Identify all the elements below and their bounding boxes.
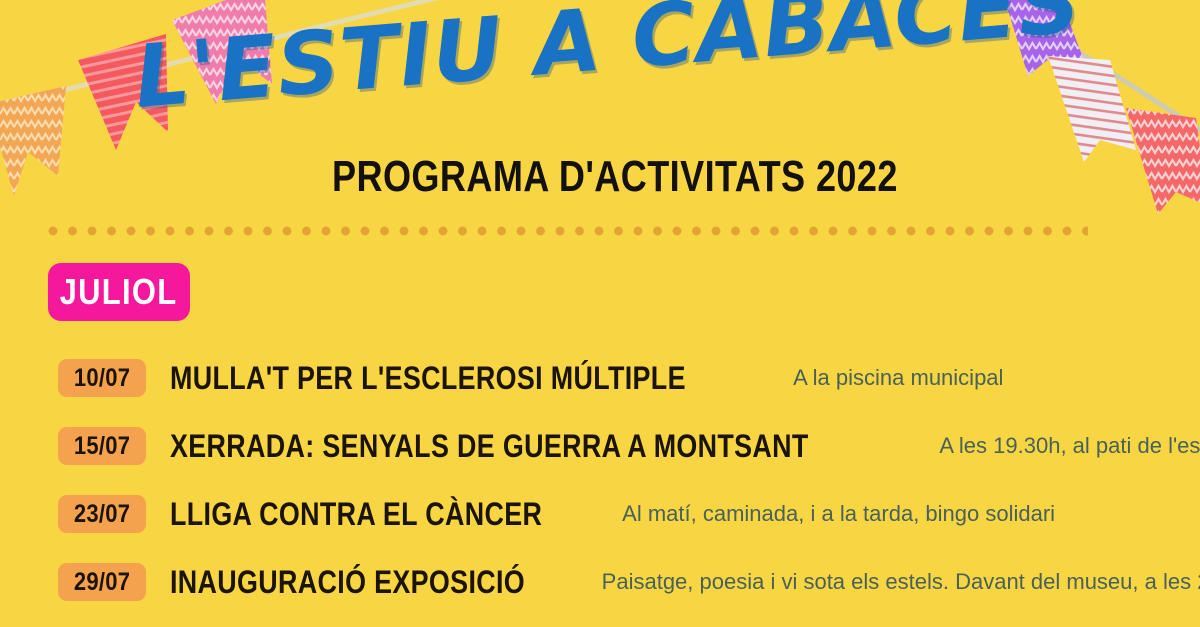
title-block: L'ESTIU A CABACÉS PROGRAMA D'ACTIVITATS … <box>0 0 1200 215</box>
list-item: 10/07 MULLA'T PER L'ESCLEROSI MÚLTIPLE A… <box>0 344 1200 412</box>
list-item-clipped <box>0 616 1200 627</box>
event-title: INAUGURACIÓ EXPOSICIÓ <box>170 565 525 599</box>
date-badge: 23/07 <box>58 495 146 533</box>
month-badge-juliol: JULIOL <box>48 263 190 321</box>
event-description: Al matí, caminada, i a la tarda, bingo s… <box>622 501 1055 527</box>
event-title: MULLA'T PER L'ESCLEROSI MÚLTIPLE <box>170 361 686 395</box>
event-description: A la piscina municipal <box>793 365 1003 391</box>
event-description: Paisatge, poesia i vi sota els estels. D… <box>602 569 1200 595</box>
dotted-divider <box>48 226 1088 236</box>
poster-canvas: L'ESTIU A CABACÉS PROGRAMA D'ACTIVITATS … <box>0 0 1200 627</box>
event-title: XERRADA: SENYALS DE GUERRA A MONTSANT <box>170 429 809 463</box>
event-list: 10/07 MULLA'T PER L'ESCLEROSI MÚLTIPLE A… <box>0 344 1200 627</box>
date-badge: 15/07 <box>58 427 146 465</box>
page-title: L'ESTIU A CABACÉS <box>131 0 1036 128</box>
list-item: 15/07 XERRADA: SENYALS DE GUERRA A MONTS… <box>0 412 1200 480</box>
list-item: 23/07 LLIGA CONTRA EL CÀNCER Al matí, ca… <box>0 480 1200 548</box>
date-badge: 10/07 <box>58 359 146 397</box>
date-badge: 29/07 <box>58 563 146 601</box>
date-badge-label: 23/07 <box>74 500 130 529</box>
month-badge-label: JULIOL <box>60 271 178 313</box>
event-description: A les 19.30h, al pati de l'escola <box>939 433 1200 459</box>
date-badge-label: 29/07 <box>74 568 130 597</box>
date-badge-label: 15/07 <box>74 432 130 461</box>
event-title: LLIGA CONTRA EL CÀNCER <box>170 497 542 531</box>
date-badge-label: 10/07 <box>74 364 130 393</box>
page-subtitle: PROGRAMA D'ACTIVITATS 2022 <box>332 155 898 199</box>
list-item: 29/07 INAUGURACIÓ EXPOSICIÓ Paisatge, po… <box>0 548 1200 616</box>
